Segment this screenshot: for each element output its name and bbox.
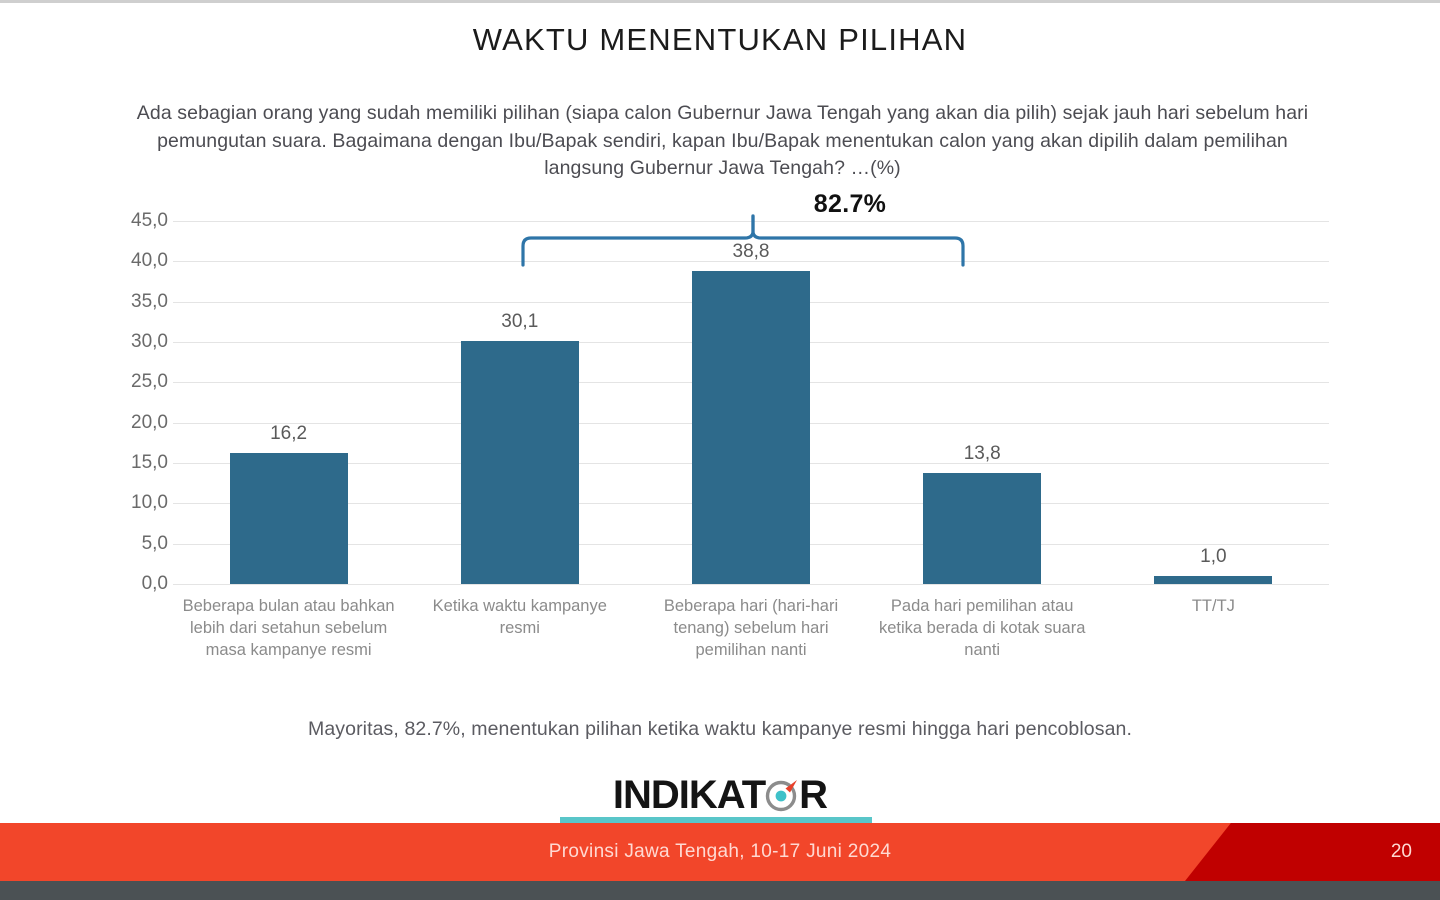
bottom-strip	[0, 881, 1440, 900]
x-axis-category-label: Beberapa hari (hari-hari tenang) sebelum…	[642, 596, 859, 662]
y-axis-tick-label: 30,0	[106, 331, 168, 353]
y-axis-tick-label: 25,0	[106, 371, 168, 393]
indikator-logo: INDIKATR	[560, 770, 880, 820]
bar-chart: 0,05,010,015,020,025,030,035,040,045,0 1…	[104, 190, 1336, 590]
bar	[1154, 576, 1272, 584]
bar-value-label: 38,8	[671, 241, 831, 263]
target-compass-icon	[764, 777, 800, 813]
survey-question-text: Ada sebagian orang yang sudah memiliki p…	[120, 100, 1325, 183]
y-axis-tick-label: 5,0	[106, 533, 168, 555]
bar-value-label: 16,2	[209, 423, 369, 445]
slide-footer: Provinsi Jawa Tengah, 10-17 Juni 2024 20	[0, 823, 1440, 881]
x-axis-category-label: Pada hari pemilihan atau ketika berada d…	[874, 596, 1091, 662]
y-axis-tick-label: 15,0	[106, 452, 168, 474]
y-axis-tick-label: 45,0	[106, 210, 168, 232]
chart-plot-area	[173, 221, 1329, 584]
bar-value-label: 30,1	[440, 311, 600, 333]
y-axis-tick-label: 20,0	[106, 412, 168, 434]
bar	[692, 271, 810, 584]
bar-value-label: 1,0	[1133, 546, 1293, 568]
gridline	[173, 221, 1329, 222]
top-divider	[0, 0, 1440, 3]
y-axis-tick-label: 0,0	[106, 573, 168, 595]
slide-root: WAKTU MENENTUKAN PILIHAN Ada sebagian or…	[0, 0, 1440, 900]
bar	[461, 341, 579, 584]
logo-text-before: INDIKAT	[613, 773, 765, 818]
bar	[923, 473, 1041, 584]
y-axis-tick-label: 40,0	[106, 250, 168, 272]
y-axis-tick-label: 35,0	[106, 291, 168, 313]
page-number: 20	[1391, 823, 1412, 881]
bar-value-label: 13,8	[902, 443, 1062, 465]
x-axis-category-label: Beberapa bulan atau bahkan lebih dari se…	[180, 596, 397, 662]
x-axis-category-label: TT/TJ	[1105, 596, 1322, 618]
x-axis-category-label: Ketika waktu kampanye resmi	[411, 596, 628, 640]
footer-caption: Provinsi Jawa Tengah, 10-17 Juni 2024	[0, 823, 1440, 881]
chart-footnote: Mayoritas, 82.7%, menentukan pilihan ket…	[0, 718, 1440, 741]
gridline	[173, 584, 1329, 585]
bar	[230, 453, 348, 584]
y-axis-tick-label: 10,0	[106, 492, 168, 514]
total-percentage-label: 82.7%	[750, 190, 950, 219]
logo-text-after: R	[799, 773, 827, 818]
page-title: WAKTU MENENTUKAN PILIHAN	[0, 22, 1440, 58]
